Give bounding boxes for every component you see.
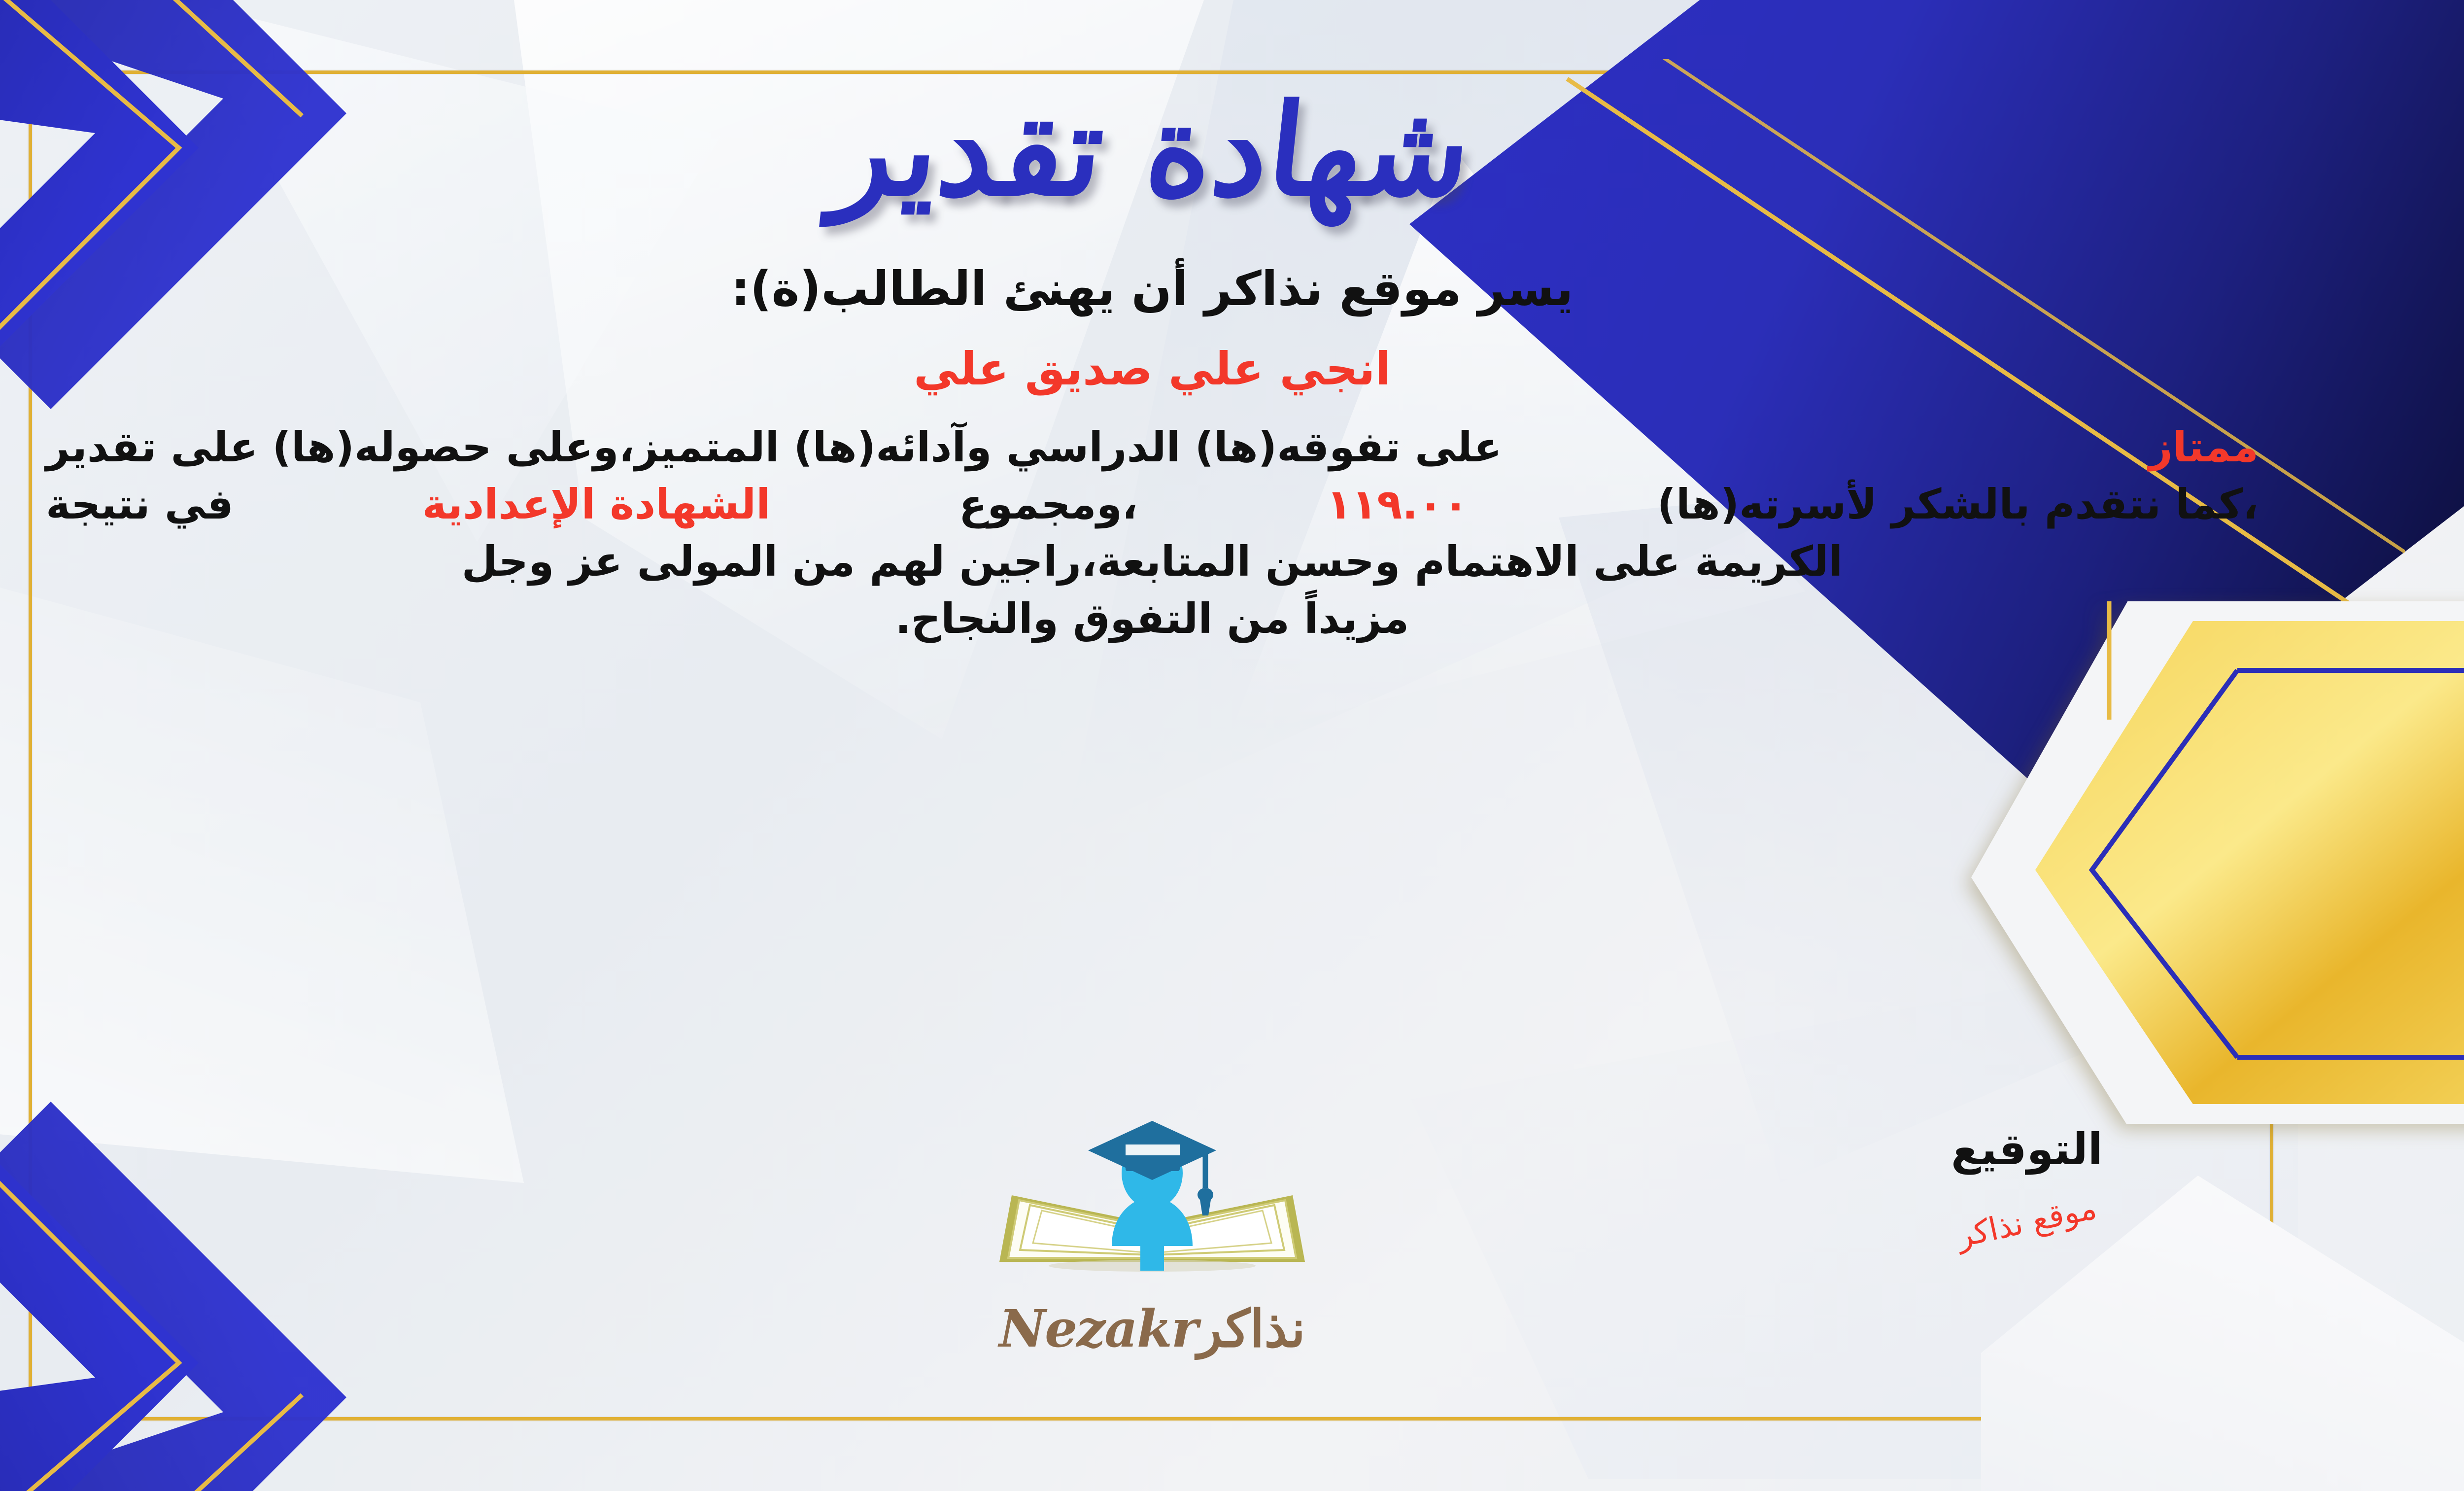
signature-label: التوقيع	[1840, 1124, 2214, 1175]
certificate-title-wrap: شهادة تقدير	[31, 69, 2273, 232]
site-logo: نذاكرNezakr	[965, 1114, 1339, 1359]
logo-latin: Nezakr	[999, 1298, 1198, 1359]
body-line-3: الكريمة على الاهتمام وحسن المتابعة،راجين…	[46, 533, 2259, 590]
greeting-text: يسر موقع نذاكر أن يهنئ الطالب(ة):	[31, 261, 2273, 316]
certificate-content: شهادة تقدير يسر موقع نذاكر أن يهنئ الطال…	[31, 74, 2273, 1420]
body-line-2-suffix: ،كما نتقدم بالشكر لأسرته(ها)	[1657, 476, 2259, 533]
certificate-card: شهادة تقدير يسر موقع نذاكر أن يهنئ الطال…	[0, 0, 2464, 1491]
graduate-book-icon	[985, 1114, 1320, 1311]
logo-arabic: نذاكر	[1198, 1298, 1305, 1359]
body-line-1: ممتاز على تفوقه(ها) الدراسي وآدائه(ها) ا…	[46, 419, 2259, 476]
signature-block: التوقيع موقع نذاكر	[1840, 1124, 2214, 1241]
total-score: ١١٩.٠٠	[1327, 476, 1469, 533]
logo-wordmark: نذاكرNezakr	[965, 1298, 1339, 1359]
body-line-2-mid: ،ومجموع	[959, 476, 1138, 533]
student-name: انجي علي صديق علي	[31, 343, 2273, 395]
body-line-1-text: على تفوقه(ها) الدراسي وآدائه(ها) المتميز…	[46, 419, 1502, 476]
body-line-2: ،كما نتقدم بالشكر لأسرته(ها) ١١٩.٠٠ ،ومج…	[46, 476, 2259, 533]
grade-value: ممتاز	[2149, 419, 2259, 476]
body-line-4: مزيداً من التفوق والنجاح.	[46, 590, 2259, 648]
exam-name: الشهادة الإعدادية	[422, 476, 770, 533]
certificate-body: ممتاز على تفوقه(ها) الدراسي وآدائه(ها) ا…	[46, 419, 2259, 648]
signature-mark: موقع نذاكر	[1954, 1190, 2100, 1255]
body-line-2-prefix: في نتيجة	[46, 476, 234, 533]
certificate-title: شهادة تقدير	[827, 88, 1476, 213]
